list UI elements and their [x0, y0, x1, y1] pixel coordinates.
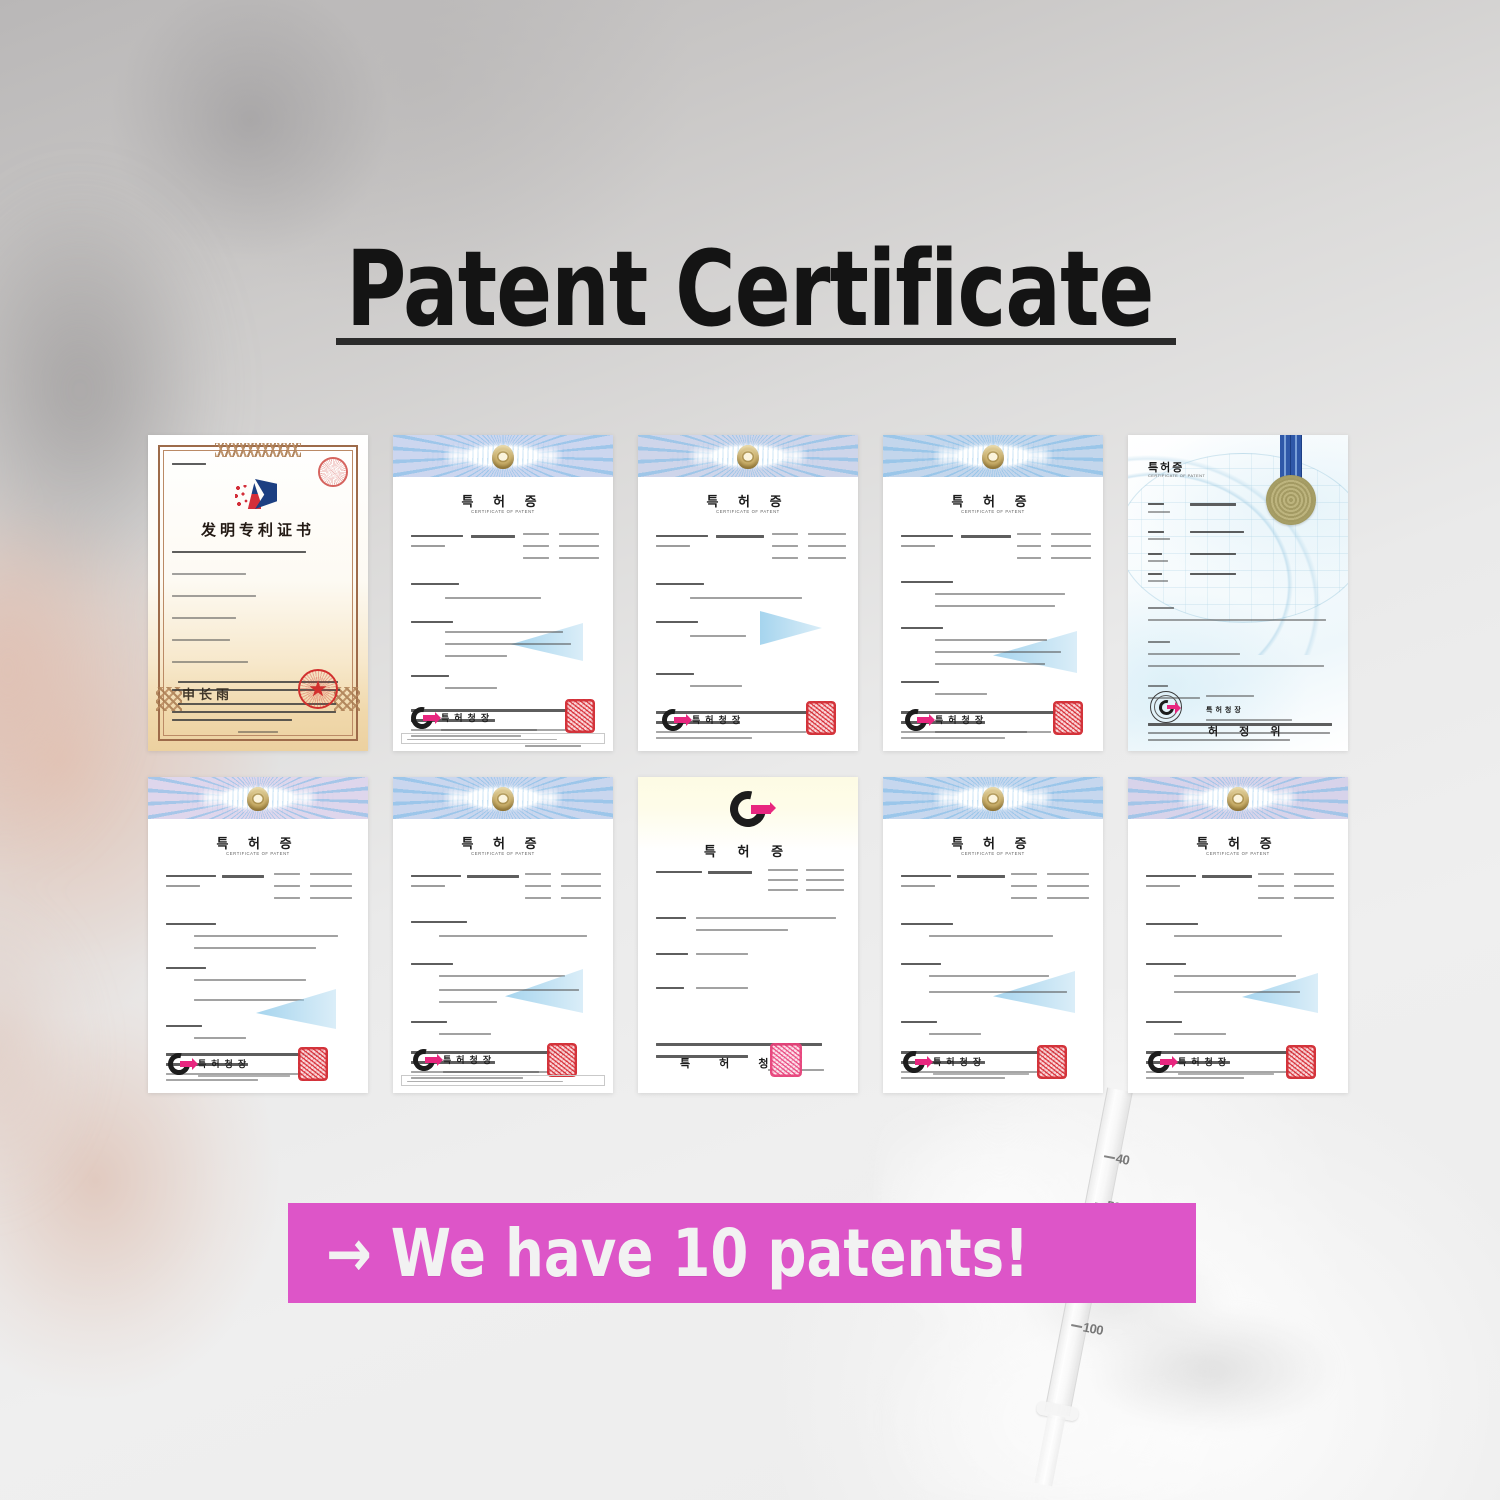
kr-header-band	[883, 435, 1103, 477]
cn-ornament-top	[215, 443, 301, 457]
kipo-round-logo-icon	[1150, 691, 1182, 723]
kipo-logo-icon	[905, 709, 927, 731]
cnipa-logo-icon	[235, 479, 281, 511]
kr-watermark-triangle	[511, 623, 583, 661]
kr-official-seal-icon	[1053, 701, 1083, 735]
kr-official-seal-icon	[1286, 1045, 1316, 1079]
kipo-logo-icon	[413, 1049, 435, 1071]
kipo-emblem-icon	[737, 445, 759, 469]
kr-certificate-subtitle: CERTIFICATE OF PATENT	[393, 851, 613, 856]
kr-certificate-subtitle: CERTIFICATE OF PATENT	[883, 509, 1103, 514]
kr-header-band	[638, 435, 858, 477]
kipo-emblem-icon	[1227, 787, 1249, 811]
kr-agency-name: 특허청장	[1206, 705, 1244, 715]
certificate-card-kr-patent-2[interactable]: 특 허 증 CERTIFICATE OF PATENT 특허청장	[638, 435, 858, 751]
cn-signature: 申长雨	[182, 684, 233, 703]
kipo-emblem-icon	[247, 787, 269, 811]
certificate-card-kr-patent-4[interactable]: 특 허 증 CERTIFICATE OF PATENT 특허청장	[148, 777, 368, 1093]
kr-official-seal-icon	[298, 1047, 328, 1081]
kr-footer-box	[401, 1075, 605, 1086]
kr-certificate-title: 특 허 증	[1128, 833, 1348, 852]
patents-count-banner-text: → We have 10 patents!	[326, 1215, 1029, 1292]
kr-header-band	[148, 777, 368, 819]
certificate-card-kr-patent-3[interactable]: 특 허 증 CERTIFICATE OF PATENT 특허청장	[883, 435, 1103, 751]
title-underline	[336, 338, 1176, 345]
kipo-logo-icon	[168, 1053, 190, 1075]
kr-certificate-subtitle: CERTIFICATE OF PATENT	[1128, 851, 1348, 856]
kr-agency-name: 특 허 청	[680, 1055, 781, 1071]
kr-agency-name: 특허청장	[692, 713, 745, 726]
kr-certificate-title: 특 허 증	[148, 833, 368, 852]
kr-certificate-subtitle: CERTIFICATE OF PATENT	[1148, 473, 1205, 478]
kr-watermark-triangle	[1242, 973, 1318, 1013]
kr-agency-name: 특허청장	[198, 1057, 251, 1070]
cn-corner-bl	[156, 687, 182, 711]
page-title: Patent Certificate	[346, 236, 1153, 342]
certificate-card-kr-patent-6[interactable]: 특 허 증 CERTIFICATE OF PATENT 특허청장	[883, 777, 1103, 1093]
kr-watermark-triangle	[256, 989, 336, 1029]
kr-agency-name: 특허청장	[1178, 1055, 1231, 1068]
certificate-grid: 发明专利证书 申长雨 특 허 증 CERTIFICATE OF PATENT	[148, 435, 1356, 1093]
cn-certificate-title: 发明专利证书	[148, 519, 368, 540]
certificate-card-kr-patent-5[interactable]: 특 허 증 CERTIFICATE OF PATENT 특허청장	[393, 777, 613, 1093]
kr-certificate-subtitle: CERTIFICATE OF PATENT	[393, 509, 613, 514]
kr-certificate-title: 특 허 증	[393, 491, 613, 510]
kr-certificate-subtitle: CERTIFICATE OF PATENT	[883, 851, 1103, 856]
kr-agency-name: 특허청장	[443, 1053, 496, 1066]
kr-certificate-title: 특 허 증	[883, 833, 1103, 852]
kipo-logo-icon	[1148, 1051, 1170, 1073]
kr-certificate-subtitle: CERTIFICATE OF PATENT	[148, 851, 368, 856]
kipo-logo-icon	[730, 791, 766, 827]
kipo-emblem-icon	[982, 445, 1004, 469]
kipo-logo-icon	[411, 707, 433, 729]
kr-certificate-title: 특 허 증	[883, 491, 1103, 510]
kr-agency-name: 특허청장	[935, 713, 988, 726]
kr-agency-name: 특허청장	[933, 1055, 986, 1068]
kr-agency-name: 특허청장	[441, 711, 494, 724]
gold-medal-icon	[1266, 475, 1316, 525]
kr-signature: 허 정 위	[1208, 723, 1289, 739]
syringe-rod	[1034, 1414, 1065, 1486]
kr-official-seal-icon	[806, 701, 836, 735]
certificate-card-kr-patent-1[interactable]: 특 허 증 CERTIFICATE OF PATENT 특허청장	[393, 435, 613, 751]
kr-certificate-title: 특 허 증	[393, 833, 613, 852]
kr-header-band	[393, 777, 613, 819]
kr-official-seal-icon	[770, 1043, 802, 1077]
certificate-card-kr-patent-7[interactable]: 특 허 증 CERTIFICATE OF PATENT 특허청장	[1128, 777, 1348, 1093]
kr-header-band	[883, 777, 1103, 819]
kr-certificate-title: 특 허 증	[638, 841, 858, 860]
kr-official-seal-icon	[547, 1043, 577, 1077]
cn-official-seal-icon	[298, 669, 338, 709]
page-title-wrap: Patent Certificate	[0, 236, 1500, 342]
kr-header-band	[393, 435, 613, 477]
kipo-emblem-icon	[492, 787, 514, 811]
kr-official-seal-icon	[565, 699, 595, 733]
kr-header-band	[1128, 777, 1348, 819]
certificate-card-kr-patent-medal[interactable]: 특허증 CERTIFICATE OF PATENT 특허청장	[1128, 435, 1348, 751]
kr-certificate-title: 특 허 증	[638, 491, 858, 510]
certificate-card-kr-patent-yellow[interactable]: 특 허 증 특 허 청	[638, 777, 858, 1093]
certificate-card-cn-invention-patent[interactable]: 发明专利证书 申长雨	[148, 435, 368, 751]
kr-official-seal-icon	[1037, 1045, 1067, 1079]
kipo-emblem-icon	[982, 787, 1004, 811]
kr-footer-box	[401, 733, 605, 744]
kipo-logo-icon	[662, 709, 684, 731]
patents-count-banner: → We have 10 patents!	[288, 1203, 1196, 1303]
kipo-emblem-icon	[492, 445, 514, 469]
kipo-logo-icon	[903, 1051, 925, 1073]
syringe-tick-40: 40	[1115, 1151, 1131, 1168]
kr-certificate-subtitle: CERTIFICATE OF PATENT	[638, 509, 858, 514]
cn-round-stamp-icon	[318, 457, 348, 487]
kr-watermark-triangle	[760, 611, 822, 645]
